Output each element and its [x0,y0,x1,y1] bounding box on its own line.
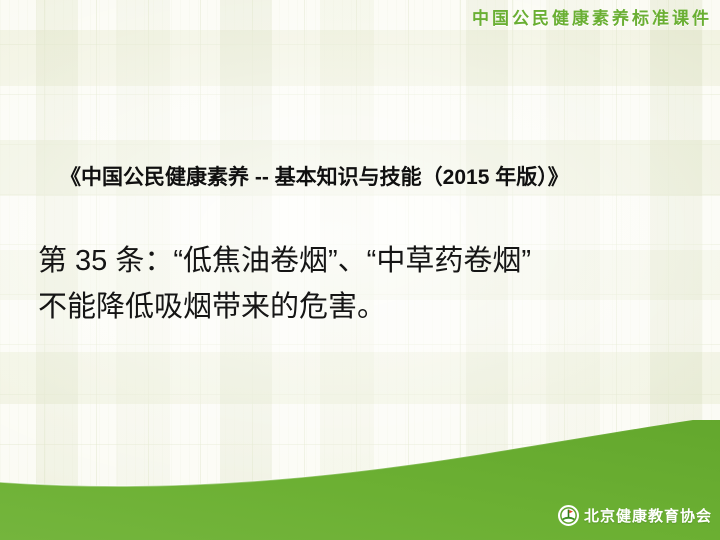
body-paragraph: 第 35 条：“低焦油卷烟”、“中草药卷烟” 不能降低吸烟带来的危害。 [38,238,688,330]
footer-logo: 北京健康教育协会 [558,504,712,526]
body-line-2: 不能降低吸烟带来的危害。 [38,284,688,330]
header-course-title: 中国公民健康素养标准课件 [472,4,712,29]
slide-canvas: 中国公民健康素养标准课件 《中国公民健康素养 -- 基本知识与技能（2015 年… [0,0,720,540]
slide-header: 中国公民健康素养标准课件 [0,0,720,32]
document-title: 《中国公民健康素养 -- 基本知识与技能（2015 年版）》 [60,161,569,191]
footer-organization-name: 北京健康教育协会 [584,505,712,526]
circular-emblem-icon [558,505,579,526]
body-line-1: 第 35 条：“低焦油卷烟”、“中草药卷烟” [38,238,688,284]
